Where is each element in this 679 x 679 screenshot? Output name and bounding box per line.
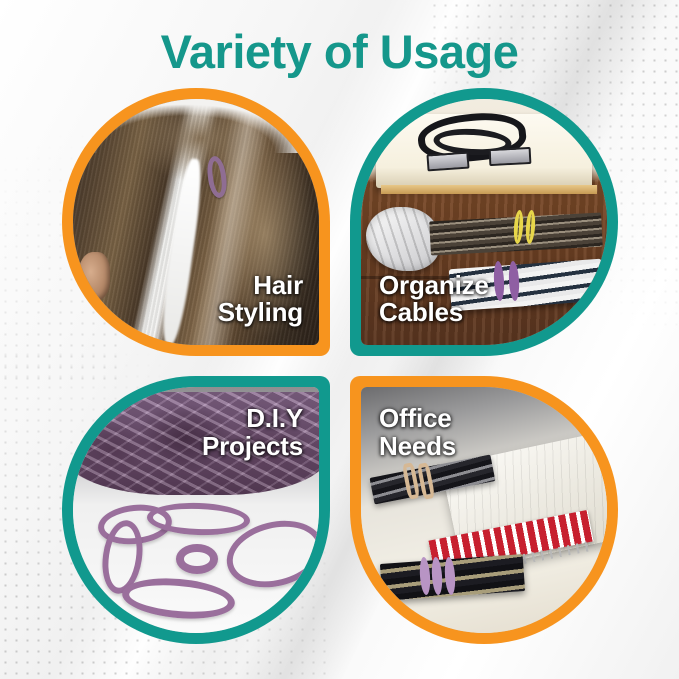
usb-plug-a — [427, 152, 470, 172]
hair-top-backdrop — [73, 99, 319, 153]
panel-diy-projects[interactable]: D.I.Y Projects — [62, 376, 330, 644]
panel-image-diy-projects: D.I.Y Projects — [73, 387, 319, 633]
panel-label-organize-cables: Organize Cables — [379, 272, 489, 327]
petal-grid: Hair Styling — [62, 88, 618, 644]
panel-label-diy-projects: D.I.Y Projects — [202, 405, 303, 460]
ear-shape — [78, 252, 110, 301]
panel-image-organize-cables: Organize Cables — [361, 99, 607, 345]
panel-image-office-needs: Office Needs — [361, 387, 607, 633]
panel-label-hair-styling: Hair Styling — [218, 272, 303, 327]
panel-image-hair-styling: Hair Styling — [73, 99, 319, 345]
page-title: Variety of Usage — [0, 24, 679, 79]
panel-organize-cables[interactable]: Organize Cables — [350, 88, 618, 356]
panel-office-needs[interactable]: Office Needs — [350, 376, 618, 644]
paper-edge — [381, 185, 598, 194]
usb-plug-b — [488, 147, 531, 166]
panel-label-office-needs: Office Needs — [379, 405, 456, 460]
rubber-band-coil — [176, 544, 218, 574]
panel-hair-styling[interactable]: Hair Styling — [62, 88, 330, 356]
rubber-band-loop-4 — [121, 574, 237, 623]
infographic-page: Variety of Usage Hair Styling — [0, 0, 679, 679]
